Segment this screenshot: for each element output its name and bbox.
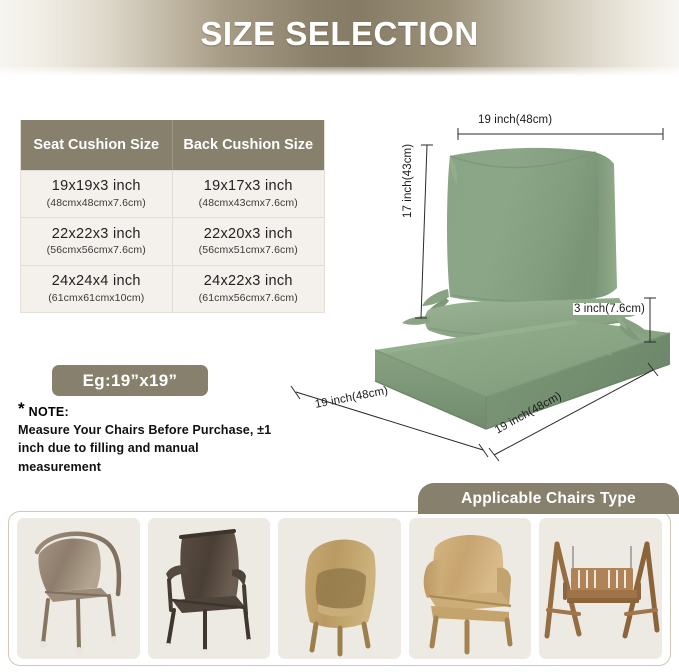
seat-size-cm: (48cmx48cmx7.6cm) — [47, 197, 146, 209]
dim-tick-seat-depth-left — [489, 448, 499, 461]
dim-line-back-height — [421, 145, 427, 318]
page-banner: SIZE SELECTION — [0, 0, 679, 76]
note-title: NOTE: — [29, 405, 69, 419]
wooden-porch-swing-icon — [539, 518, 662, 659]
page-title: SIZE SELECTION — [0, 0, 679, 68]
seat-size-cm: (56cmx56cmx7.6cm) — [47, 244, 146, 256]
note-title-row: * NOTE: — [18, 403, 298, 419]
chair-thumb-barrel-wicker-tub-chair[interactable] — [278, 518, 401, 659]
chair-thumb-round-back-wicker-stacking-chair[interactable] — [17, 518, 140, 659]
swing-bench-back — [571, 568, 633, 590]
chair-leg-caps — [164, 639, 252, 657]
chair-back-weave — [180, 532, 238, 602]
chair-back-weave — [433, 535, 503, 596]
chair-back-weave — [38, 539, 100, 592]
dim-label-back-cushion-height: 17 inch(43cm) — [402, 144, 414, 218]
asterisk-icon: * — [18, 403, 25, 415]
swing-chains — [573, 546, 631, 570]
column-header-seat-cushion-size: Seat Cushion Size — [21, 120, 173, 170]
applicable-chairs-strip — [8, 511, 671, 666]
chair-legs — [168, 608, 249, 652]
swing-bench-seat — [565, 590, 641, 598]
seat-size-cm: (61cmx61cmx10cm) — [48, 292, 144, 304]
example-size-badge: Eg:19”x19” — [52, 365, 208, 396]
chair-thumb-wooden-porch-swing[interactable] — [539, 518, 662, 659]
seat-size-inch: 22x22x3 inch — [52, 226, 141, 243]
dim-label-seat-thickness: 3 inch(7.6cm) — [573, 303, 646, 315]
cushion-diagram-svg — [278, 92, 679, 482]
dark-wicker-armchair-icon — [148, 518, 271, 659]
chair-thumb-dark-wicker-high-back-armchair[interactable] — [148, 518, 271, 659]
banner-fade — [0, 67, 679, 76]
cushion-illustration: 19 inch(48cm) 17 inch(43cm) 3 inch(7.6cm… — [278, 92, 679, 482]
barrel-wicker-tub-chair-icon — [278, 518, 401, 659]
seat-size-inch: 24x24x4 inch — [52, 273, 141, 290]
dim-label-back-cushion-width: 19 inch(48cm) — [478, 114, 552, 126]
seat-cushion-seam-mark — [608, 354, 612, 355]
chair-arm-post-left — [169, 580, 171, 610]
chair-thumb-natural-wicker-armchair[interactable] — [409, 518, 532, 659]
chair-legs — [432, 618, 510, 652]
applicable-chairs-tab: Applicable Chairs Type — [418, 483, 679, 514]
back-cushion-front-face — [447, 148, 599, 303]
chair-legs — [312, 624, 368, 654]
swing-front-skirt — [567, 598, 639, 603]
chair-inner-shadow — [316, 568, 366, 611]
cell-seat-size: 19x19x3 inch (48cmx48cmx7.6cm) — [21, 171, 173, 217]
round-back-wicker-chair-icon — [17, 518, 140, 659]
cell-seat-size: 22x22x3 inch (56cmx56cmx7.6cm) — [21, 218, 173, 264]
note-body: Measure Your Chairs Before Purchase, ±1 … — [18, 421, 280, 476]
cell-seat-size: 24x24x4 inch (61cmx61cmx10cm) — [21, 266, 173, 312]
natural-wicker-armchair-icon — [409, 518, 532, 659]
chair-legs — [43, 596, 114, 650]
dim-tick-seat-width-right — [479, 444, 488, 457]
seat-size-inch: 19x19x3 inch — [52, 178, 141, 195]
note-block: * NOTE: Measure Your Chairs Before Purch… — [18, 403, 298, 476]
chair-arm-left — [423, 560, 442, 599]
